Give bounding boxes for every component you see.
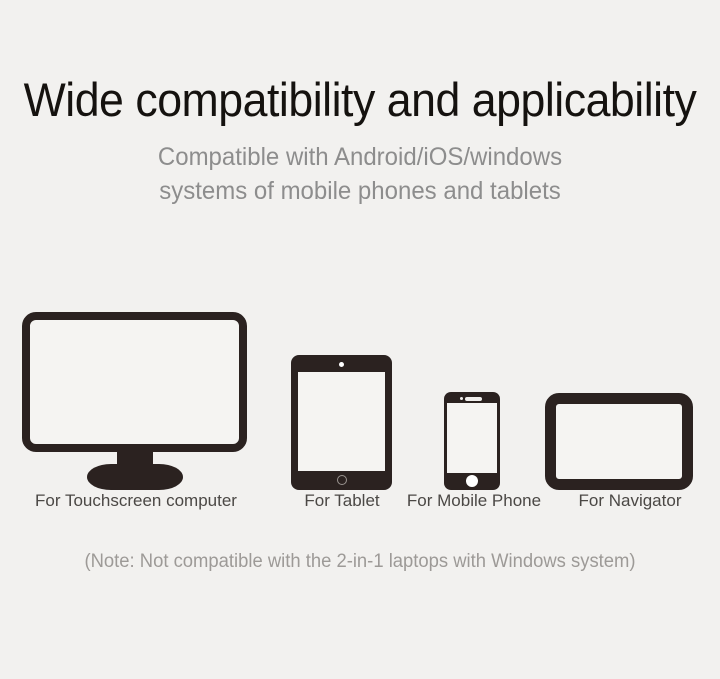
subtitle-line-1: Compatible with Android/iOS/windows bbox=[14, 140, 705, 174]
device-label-mobile-phone: For Mobile Phone bbox=[400, 491, 548, 511]
device-icon-row bbox=[0, 290, 720, 490]
tablet-icon bbox=[291, 355, 392, 490]
device-label-navigator: For Navigator bbox=[556, 491, 704, 511]
phone-home-button bbox=[466, 475, 478, 487]
compatibility-banner: Wide compatibility and applicability Com… bbox=[0, 0, 720, 679]
tablet-screen bbox=[298, 372, 385, 471]
page-title: Wide compatibility and applicability bbox=[18, 72, 702, 127]
device-label-tablet: For Tablet bbox=[280, 491, 404, 511]
subtitle-line-2: systems of mobile phones and tablets bbox=[14, 174, 705, 208]
phone-speaker-slit bbox=[465, 397, 482, 401]
monitor-stand-base bbox=[87, 464, 183, 490]
phone-screen bbox=[447, 403, 497, 473]
monitor-screen bbox=[22, 312, 247, 452]
device-label-row: For Touchscreen computer For Tablet For … bbox=[0, 491, 720, 517]
desktop-monitor-icon bbox=[22, 312, 247, 490]
car-navigator-icon bbox=[545, 393, 693, 490]
phone-camera-dot bbox=[460, 397, 463, 400]
compatibility-note: (Note: Not compatible with the 2-in-1 la… bbox=[11, 551, 709, 573]
device-label-touchscreen-computer: For Touchscreen computer bbox=[20, 491, 252, 511]
mobile-phone-icon bbox=[444, 392, 500, 490]
tablet-camera-dot bbox=[339, 362, 344, 367]
navigator-screen bbox=[545, 393, 693, 490]
tablet-home-button bbox=[337, 475, 347, 485]
page-subtitle: Compatible with Android/iOS/windows syst… bbox=[14, 140, 705, 208]
